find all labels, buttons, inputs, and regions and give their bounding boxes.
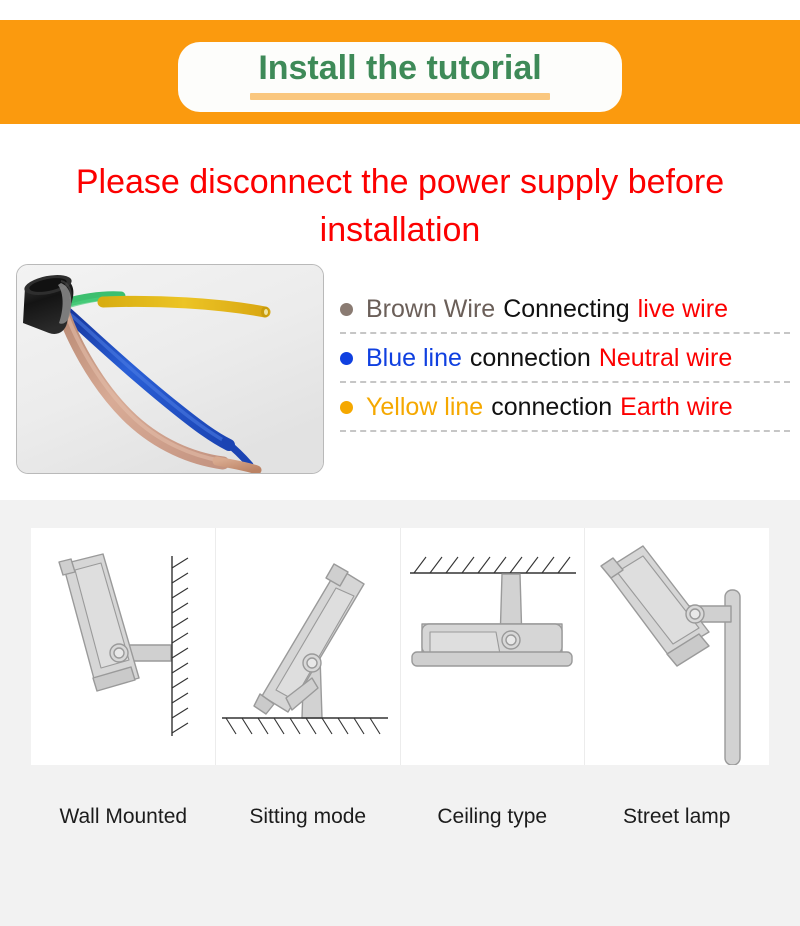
legend-verb: connection <box>470 344 591 373</box>
legend-row-yellow: Yellow line connection Earth wire <box>340 386 790 428</box>
power-warning-heading: Please disconnect the power supply befor… <box>0 158 800 254</box>
legend-divider <box>340 381 790 383</box>
title-underline <box>250 93 550 100</box>
mounting-panel-wall-mounted <box>31 528 215 765</box>
mounting-label-sitting-mode: Sitting mode <box>216 805 401 829</box>
legend-row-blue: Blue line connection Neutral wire <box>340 337 790 379</box>
wall-mounted-diagram <box>31 528 215 765</box>
ceiling-type-diagram <box>400 528 584 765</box>
brown-bullet-icon <box>340 303 353 316</box>
street-lamp-diagram <box>585 528 769 765</box>
mounting-panel-ceiling-type <box>400 528 585 765</box>
mounting-panel-street-lamp <box>584 528 769 765</box>
mounting-label-wall-mounted: Wall Mounted <box>31 805 216 829</box>
legend-target: Earth wire <box>620 393 733 422</box>
cable-photo <box>16 264 324 474</box>
page-title: Install the tutorial <box>258 46 541 90</box>
wire-legend: Brown Wire Connecting live wire Blue lin… <box>340 288 790 435</box>
mounting-diagrams-row <box>31 528 769 765</box>
legend-wire-name: Brown Wire <box>366 295 495 324</box>
sitting-mode-diagram <box>216 528 400 765</box>
warning-line-1: Please disconnect the power supply befor… <box>0 158 800 206</box>
legend-target: Neutral wire <box>599 344 732 373</box>
mounting-panel-sitting-mode <box>215 528 400 765</box>
legend-divider <box>340 430 790 432</box>
mounting-label-ceiling-type: Ceiling type <box>400 805 585 829</box>
cable-photo-illustration <box>17 265 323 473</box>
legend-verb: connection <box>491 393 612 422</box>
mounting-modes-section: Wall Mounted Sitting mode Ceiling type S… <box>0 500 800 926</box>
mounting-labels-row: Wall Mounted Sitting mode Ceiling type S… <box>31 805 769 829</box>
warning-line-2: installation <box>0 206 800 254</box>
blue-bullet-icon <box>340 352 353 365</box>
legend-row-brown: Brown Wire Connecting live wire <box>340 288 790 330</box>
legend-verb: Connecting <box>503 295 629 324</box>
yellow-bullet-icon <box>340 401 353 414</box>
legend-wire-name: Yellow line <box>366 393 483 422</box>
header-title-pill: Install the tutorial <box>178 42 622 112</box>
legend-divider <box>340 332 790 334</box>
mounting-label-street-lamp: Street lamp <box>585 805 770 829</box>
legend-wire-name: Blue line <box>366 344 462 373</box>
legend-target: live wire <box>638 295 728 324</box>
